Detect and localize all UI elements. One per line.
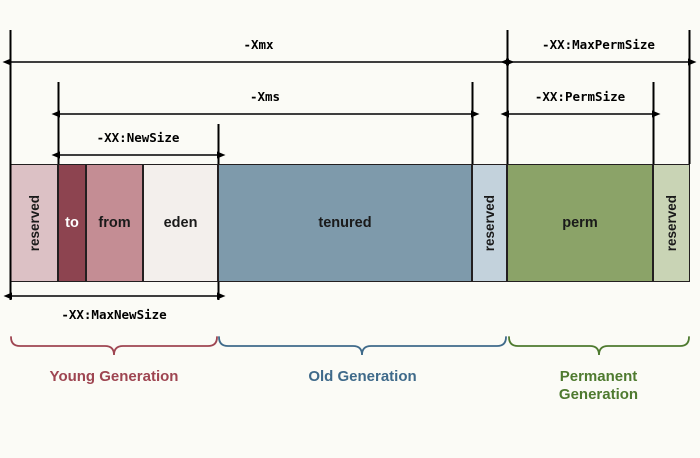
generation-caption-permanent: Permanent Generation (507, 368, 690, 404)
generation-caption-label: Old Generation (308, 368, 416, 385)
dimension-label-maxnewsize: -XX:MaxNewSize (10, 307, 218, 322)
memory-block-tenured: tenured (218, 164, 472, 282)
memory-block-old-reserved: reserved (472, 164, 507, 282)
dimension-label-xmx: -Xmx (10, 37, 507, 52)
memory-block-label: perm (562, 215, 597, 231)
generation-caption-old: Old Generation (218, 368, 507, 386)
memory-block-label: reserved (664, 195, 679, 251)
memory-block-young-reserved: reserved (10, 164, 58, 282)
memory-block-label: to (65, 215, 79, 231)
generation-caption-label: Young Generation (50, 368, 179, 385)
memory-block-to: to (58, 164, 86, 282)
memory-block-label: from (98, 215, 130, 231)
memory-block-from: from (86, 164, 143, 282)
memory-block-perm: perm (507, 164, 653, 282)
memory-block-label: reserved (482, 195, 497, 251)
generation-caption-label-line2: Generation (559, 386, 638, 403)
memory-block-label: reserved (27, 195, 42, 251)
generation-caption-young: Young Generation (10, 368, 218, 386)
dimension-label-maxpermsize: -XX:MaxPermSize (507, 37, 690, 52)
memory-block-label: tenured (318, 215, 371, 231)
brace-old-generation (219, 337, 506, 355)
jvm-memory-diagram: -Xmx -XX:MaxPermSize -Xms -XX:PermSize -… (0, 0, 700, 458)
brace-permanent-generation (509, 337, 689, 355)
memory-block-label: eden (164, 215, 198, 231)
brace-young-generation (11, 337, 217, 355)
memory-block-eden: eden (143, 164, 218, 282)
dimension-label-permsize: -XX:PermSize (507, 89, 653, 104)
dimension-label-newsize: -XX:NewSize (58, 130, 218, 145)
dimension-label-xms: -Xms (58, 89, 472, 104)
memory-block-perm-reserved: reserved (653, 164, 690, 282)
generation-caption-label-line1: Permanent (560, 368, 638, 385)
